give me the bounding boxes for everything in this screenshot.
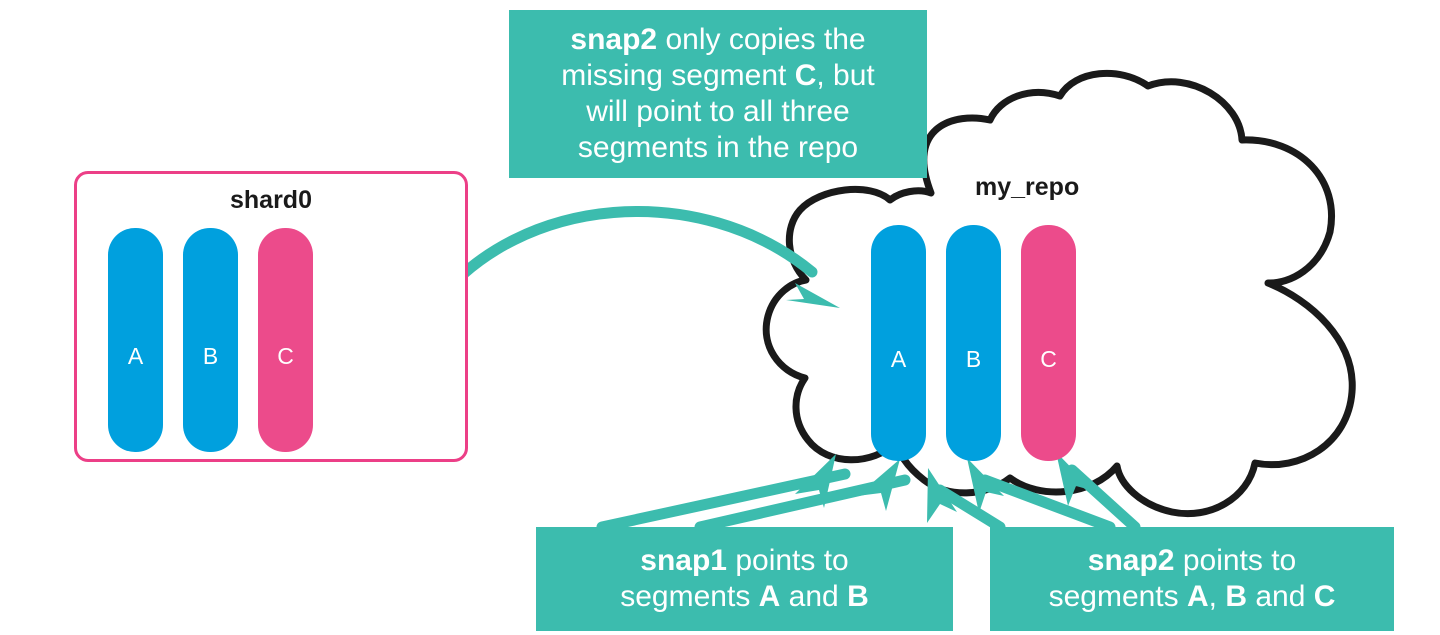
repo-segment-c-label: C [1040, 346, 1057, 373]
callout-line: segments in the repo [519, 130, 917, 166]
callout-snap2-points-to: snap2 points tosegments A, B and C [990, 527, 1394, 631]
shard0-segment-a: A [108, 228, 163, 452]
shard0-segment-c-label: C [277, 343, 294, 370]
snap2-arrow-to-segment-a [927, 468, 1000, 527]
snap2-arrow-to-segment-c [1056, 452, 1135, 527]
repo-segment-c: C [1021, 225, 1076, 461]
my-repo-title: my_repo [975, 173, 1079, 202]
repo-segment-a-label: A [891, 346, 906, 373]
shard0-segment-b: B [183, 228, 238, 452]
shard0-segment-b-label: B [203, 343, 218, 370]
shard0-container: shard0 A B C [74, 171, 468, 462]
callout-line: snap2 only copies the [519, 22, 917, 58]
repo-segment-b-label: B [966, 346, 981, 373]
callout-snap1-points-to: snap1 points tosegments A and B [536, 527, 953, 631]
repo-segment-b: B [946, 225, 1001, 461]
snap2-arrow-to-segment-b [967, 458, 1110, 527]
callout-line: snap1 points to [546, 543, 943, 579]
copy-arrow-head [786, 283, 840, 308]
diagram-canvas: shard0 A B C my_repo A B C snap2 only co… [0, 0, 1440, 635]
repo-segment-a: A [871, 225, 926, 461]
callout-line: segments A and B [546, 579, 943, 615]
shard0-segment-a-label: A [128, 343, 143, 370]
shard0-segment-c: C [258, 228, 313, 452]
callout-line: snap2 points to [1000, 543, 1384, 579]
snap1-arrow-to-segment-a [602, 454, 845, 527]
callout-line: will point to all three [519, 94, 917, 130]
copy-arrow-curve [436, 212, 812, 303]
callout-line: missing segment C, but [519, 58, 917, 94]
snap1-arrow-to-segment-b [700, 459, 905, 527]
callout-snap2-copy-explanation: snap2 only copies themissing segment C, … [509, 10, 927, 178]
callout-line: segments A, B and C [1000, 579, 1384, 615]
shard0-title: shard0 [77, 186, 465, 215]
